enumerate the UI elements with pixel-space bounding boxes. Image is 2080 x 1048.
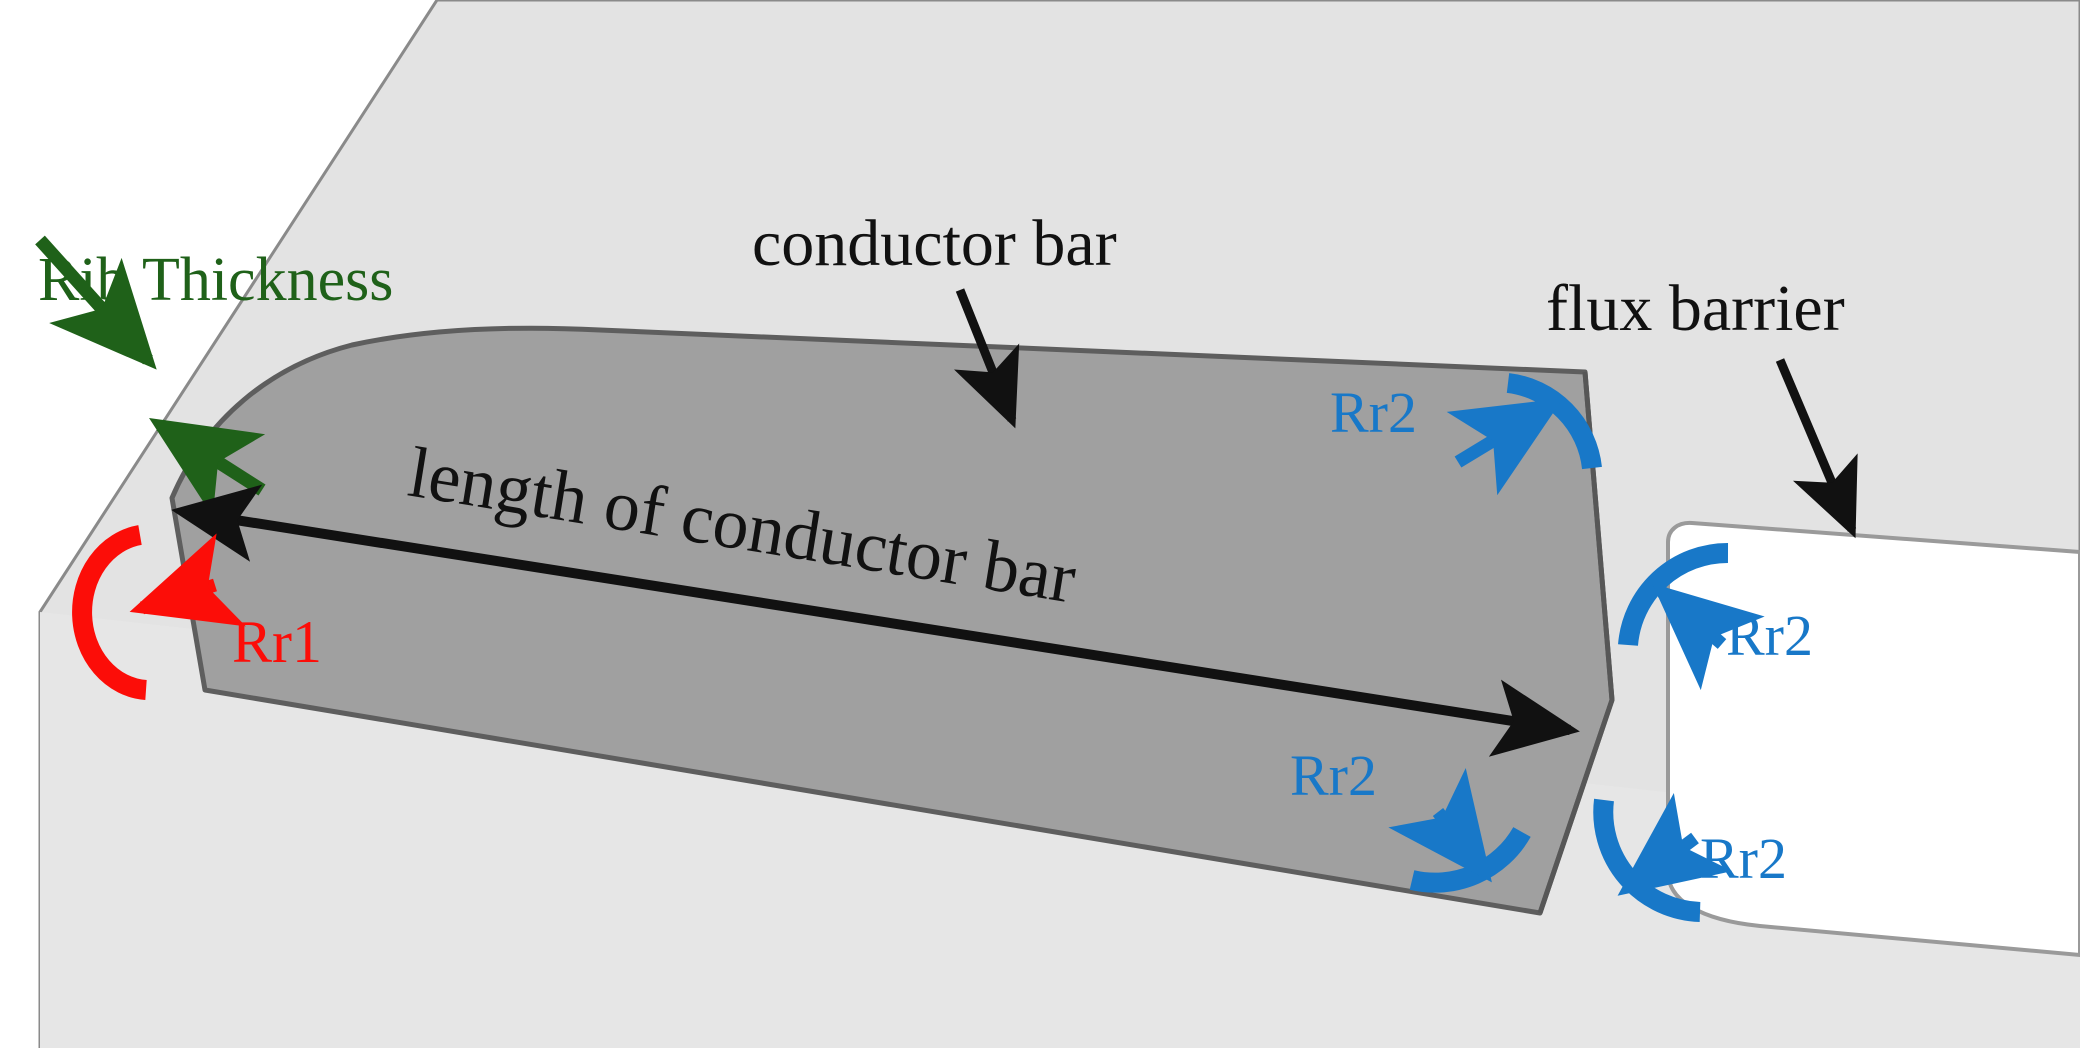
rr1-label: Rr1 [232, 609, 322, 675]
rr2-bar-top-label: Rr2 [1330, 380, 1417, 445]
conductor-bar-label: conductor bar [752, 207, 1117, 280]
rr2-bar-bottom-label: Rr2 [1290, 743, 1377, 808]
flux-barrier-label: flux barrier [1546, 272, 1845, 345]
rr2-barrier-top-label: Rr2 [1726, 603, 1813, 668]
rr2-barrier-bottom-label: Rr2 [1700, 826, 1787, 891]
rotor-geometry-svg: Rib Thickness conductor bar flux barrier… [0, 0, 2080, 1048]
diagram-canvas: Rib Thickness conductor bar flux barrier… [0, 0, 2080, 1048]
